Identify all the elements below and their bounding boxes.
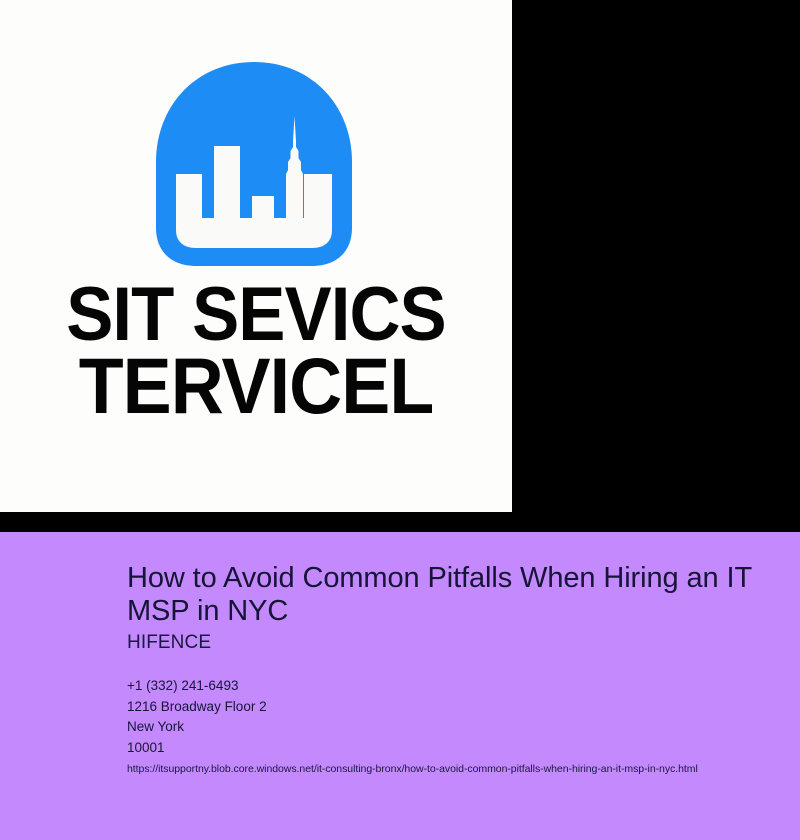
separator-band bbox=[0, 512, 800, 532]
brand-subtitle: HIFENCE bbox=[127, 632, 211, 654]
brand-wordmark-line-1: SIT SEVICS bbox=[18, 280, 494, 350]
contact-phone: +1 (332) 241-6493 bbox=[127, 676, 267, 697]
contact-street: 1216 Broadway Floor 2 bbox=[127, 697, 267, 718]
contact-zip: 10001 bbox=[127, 738, 267, 759]
page-title: How to Avoid Common Pitfalls When Hiring… bbox=[127, 562, 767, 628]
info-panel: How to Avoid Common Pitfalls When Hiring… bbox=[0, 532, 800, 840]
source-url[interactable]: https://itsupportny.blob.core.windows.ne… bbox=[127, 763, 698, 775]
logo-image-panel: SIT SEVICS TERVICEL bbox=[0, 0, 512, 512]
contact-block: +1 (332) 241-6493 1216 Broadway Floor 2 … bbox=[127, 676, 267, 758]
brand-wordmark-line-2: TERVICEL bbox=[18, 350, 494, 423]
contact-city: New York bbox=[127, 717, 267, 738]
brand-wordmark: SIT SEVICS TERVICEL bbox=[0, 280, 512, 423]
nyc-skyline-dome-logo-icon bbox=[148, 58, 360, 270]
